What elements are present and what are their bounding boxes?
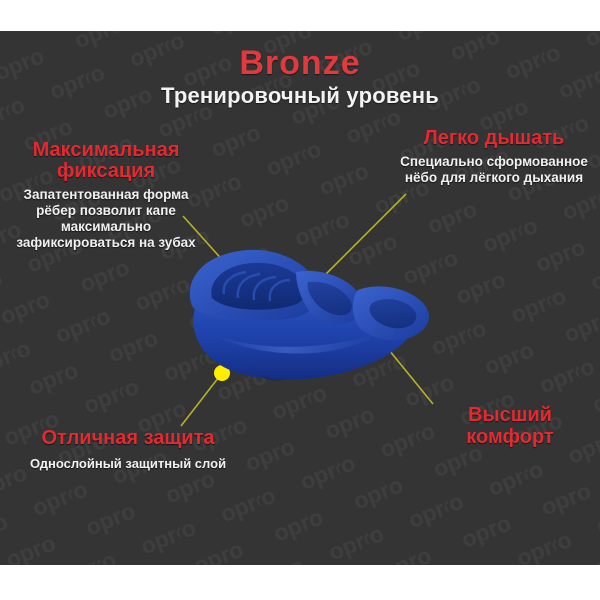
feature-title-line-2: комфорт bbox=[466, 426, 553, 448]
page-title: Bronze bbox=[0, 44, 600, 83]
feature-title-easy-breathing: Легко дышать bbox=[396, 128, 592, 149]
feature-title-excellent-protection: Отличная защита bbox=[8, 428, 248, 449]
feature-easy-breathing: Легко дышать Специально сформованное нёб… bbox=[396, 128, 592, 186]
product-infographic: opro opro opro opro Bronze Тренировочный… bbox=[0, 0, 600, 600]
feature-body-maximum-fixation: Запатентованная форма рёбер позволит кап… bbox=[8, 187, 204, 251]
page-subtitle: Тренировочный уровень bbox=[0, 83, 600, 109]
feature-highest-comfort: Высший комфорт bbox=[428, 404, 592, 449]
feature-title-line-1: Высший bbox=[468, 404, 552, 426]
feature-title-maximum-fixation: Максимальная фиксация bbox=[8, 140, 204, 182]
feature-title-highest-comfort: Высший комфорт bbox=[428, 404, 592, 449]
feature-title-line-2: фиксация bbox=[57, 160, 155, 182]
mouthguard-product-image bbox=[168, 228, 440, 408]
feature-body-excellent-protection: Однослойный защитный слой bbox=[8, 456, 248, 471]
feature-excellent-protection: Отличная защита Однослойный защитный сло… bbox=[8, 428, 248, 471]
feature-maximum-fixation: Максимальная фиксация Запатентованная фо… bbox=[8, 140, 204, 251]
feature-title-line-1: Максимальная bbox=[33, 139, 180, 161]
feature-body-easy-breathing: Специально сформованное нёбо для лёгкого… bbox=[396, 154, 592, 186]
